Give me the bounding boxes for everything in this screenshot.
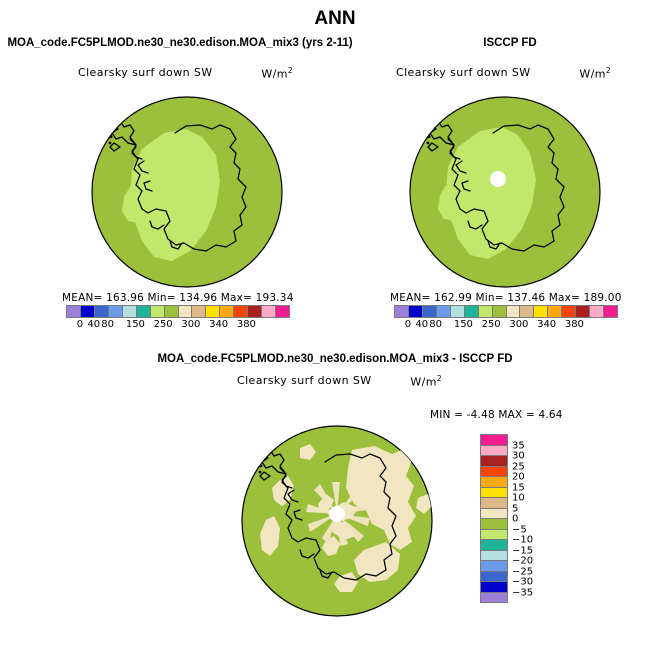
left-colorbar-tick-3: 150 xyxy=(126,319,145,330)
right-colorbar-ticks: 04080150250300340380 xyxy=(394,319,616,333)
right-colorbar-tick-2: 80 xyxy=(429,319,442,330)
left-colorbar-swatch-2[interactable] xyxy=(94,306,108,317)
difference-legend-swatch-1[interactable] xyxy=(481,445,507,456)
left-colorbar-swatch-0[interactable] xyxy=(67,306,80,317)
right-colorbar-swatch-0[interactable] xyxy=(395,306,408,317)
right-field-header: Clearsky surf down SW W/m2 xyxy=(396,66,611,81)
right-colorbar-swatch-11[interactable] xyxy=(547,306,561,317)
left-colorbar-swatch-14[interactable] xyxy=(261,306,275,317)
difference-legend-tick-9: −10 xyxy=(512,535,533,546)
left-colorbar-tick-2: 80 xyxy=(101,319,114,330)
right-colorbar-swatch-9[interactable] xyxy=(519,306,533,317)
difference-legend-swatch-14[interactable] xyxy=(481,581,507,592)
right-colorbar-swatch-5[interactable] xyxy=(464,306,478,317)
left-colorbar-tick-4: 250 xyxy=(154,319,173,330)
difference-legend-swatch-7[interactable] xyxy=(481,508,507,519)
right-map-svg xyxy=(408,95,602,289)
left-colorbar-swatch-13[interactable] xyxy=(247,306,261,317)
difference-legend-swatch-12[interactable] xyxy=(481,560,507,571)
difference-legend-tick-14: −35 xyxy=(512,587,533,598)
right-colorbar-tick-3: 150 xyxy=(454,319,473,330)
right-colorbar-swatch-6[interactable] xyxy=(478,306,492,317)
difference-legend-tick-8: −5 xyxy=(512,524,527,535)
difference-legend-tick-10: −15 xyxy=(512,545,533,556)
difference-legend-swatch-5[interactable] xyxy=(481,487,507,498)
left-colorbar-tick-6: 340 xyxy=(209,319,228,330)
difference-legend-swatch-6[interactable] xyxy=(481,497,507,508)
difference-field-label: Clearsky surf down SW xyxy=(237,374,372,389)
difference-legend-tick-3: 20 xyxy=(512,472,525,483)
difference-legend-tick-0: 35 xyxy=(512,440,525,451)
right-colorbar-swatch-7[interactable] xyxy=(492,306,506,317)
left-colorbar-swatch-8[interactable] xyxy=(178,306,192,317)
right-colorbar-swatch-15[interactable] xyxy=(603,306,617,317)
right-panel-stats: MEAN= 162.99 Min= 137.46 Max= 189.00 xyxy=(390,292,616,304)
difference-legend-tick-4: 15 xyxy=(512,482,525,493)
difference-field-units: W/m2 xyxy=(410,374,442,389)
right-panel-title: ISCCP FD xyxy=(360,37,660,49)
left-colorbar[interactable] xyxy=(66,305,290,318)
left-colorbar-tick-1: 40 xyxy=(87,319,100,330)
right-colorbar-tick-4: 250 xyxy=(482,319,501,330)
main-title: ANN xyxy=(0,8,670,30)
difference-legend-swatch-9[interactable] xyxy=(481,529,507,540)
left-map xyxy=(90,95,284,289)
left-colorbar-swatch-6[interactable] xyxy=(150,306,164,317)
right-field-units: W/m2 xyxy=(579,66,611,81)
right-colorbar[interactable] xyxy=(394,305,618,318)
left-colorbar-swatch-1[interactable] xyxy=(80,306,94,317)
difference-legend-tick-1: 30 xyxy=(512,451,525,462)
left-colorbar-tick-5: 300 xyxy=(181,319,200,330)
difference-legend-swatch-15[interactable] xyxy=(481,592,507,603)
left-colorbar-swatch-15[interactable] xyxy=(275,306,289,317)
difference-panel-title: MOA_code.FC5PLMOD.ne30_ne30.edison.MOA_m… xyxy=(0,353,670,365)
difference-field-header: Clearsky surf down SW W/m2 xyxy=(237,374,442,389)
left-panel-stats: MEAN= 163.96 Min= 134.96 Max= 193.34 xyxy=(62,292,292,304)
left-colorbar-swatch-7[interactable] xyxy=(164,306,178,317)
difference-legend-tick-11: −20 xyxy=(512,556,533,567)
difference-legend-swatch-10[interactable] xyxy=(481,539,507,550)
difference-legend-tick-13: −30 xyxy=(512,577,533,588)
right-colorbar-swatch-4[interactable] xyxy=(450,306,464,317)
right-colorbar-tick-7: 380 xyxy=(565,319,584,330)
left-colorbar-swatch-10[interactable] xyxy=(205,306,219,317)
difference-map-island-marker xyxy=(259,471,262,474)
left-panel-title: MOA_code.FC5PLMOD.ne30_ne30.edison.MOA_m… xyxy=(0,37,360,49)
right-colorbar-tick-1: 40 xyxy=(415,319,428,330)
left-field-header: Clearsky surf down SW W/m2 xyxy=(78,66,293,81)
right-field-label: Clearsky surf down SW xyxy=(396,66,531,81)
right-colorbar-swatch-12[interactable] xyxy=(561,306,575,317)
left-colorbar-swatch-4[interactable] xyxy=(122,306,136,317)
left-colorbar-swatch-5[interactable] xyxy=(136,306,150,317)
difference-legend-swatch-4[interactable] xyxy=(481,476,507,487)
difference-legend-tick-2: 25 xyxy=(512,461,525,472)
left-colorbar-swatch-12[interactable] xyxy=(233,306,247,317)
right-colorbar-tick-5: 300 xyxy=(509,319,528,330)
right-map xyxy=(408,95,602,289)
right-colorbar-swatch-8[interactable] xyxy=(506,306,520,317)
difference-legend-swatch-8[interactable] xyxy=(481,518,507,529)
difference-legend-tick-6: 5 xyxy=(512,503,518,514)
left-colorbar-swatch-9[interactable] xyxy=(191,306,205,317)
difference-legend-swatch-2[interactable] xyxy=(481,455,507,466)
left-colorbar-swatch-3[interactable] xyxy=(108,306,122,317)
difference-legend-swatch-3[interactable] xyxy=(481,466,507,477)
difference-map-missing-data-pole xyxy=(329,506,345,522)
right-colorbar-swatch-1[interactable] xyxy=(408,306,422,317)
right-colorbar-tick-0: 0 xyxy=(405,319,411,330)
left-map-svg xyxy=(90,95,284,289)
difference-legend-tick-5: 10 xyxy=(512,493,525,504)
left-colorbar-swatch-11[interactable] xyxy=(219,306,233,317)
difference-minmax-label: MIN = -4.48 MAX = 4.64 xyxy=(430,409,610,421)
left-colorbar-tick-7: 380 xyxy=(237,319,256,330)
difference-legend-bar[interactable] xyxy=(480,434,508,603)
right-colorbar-tick-6: 340 xyxy=(537,319,556,330)
right-colorbar-swatch-13[interactable] xyxy=(575,306,589,317)
difference-legend-tick-12: −25 xyxy=(512,566,533,577)
left-field-label: Clearsky surf down SW xyxy=(78,66,213,81)
difference-legend-swatch-11[interactable] xyxy=(481,550,507,561)
right-colorbar-swatch-14[interactable] xyxy=(589,306,603,317)
right-colorbar-swatch-10[interactable] xyxy=(533,306,547,317)
right-colorbar-swatch-2[interactable] xyxy=(422,306,436,317)
left-colorbar-tick-0: 0 xyxy=(77,319,83,330)
right-colorbar-swatch-3[interactable] xyxy=(436,306,450,317)
left-field-units: W/m2 xyxy=(261,66,293,81)
left-colorbar-ticks: 04080150250300340380 xyxy=(66,319,288,333)
difference-legend-swatch-13[interactable] xyxy=(481,571,507,582)
difference-map xyxy=(240,424,434,618)
difference-legend-swatch-0[interactable] xyxy=(481,435,507,445)
left-map-island-marker xyxy=(109,142,112,145)
difference-map-svg xyxy=(240,424,434,618)
right-map-island-marker xyxy=(427,142,430,145)
difference-legend-tick-7: 0 xyxy=(512,514,518,525)
right-map-missing-data-pole xyxy=(490,171,506,187)
